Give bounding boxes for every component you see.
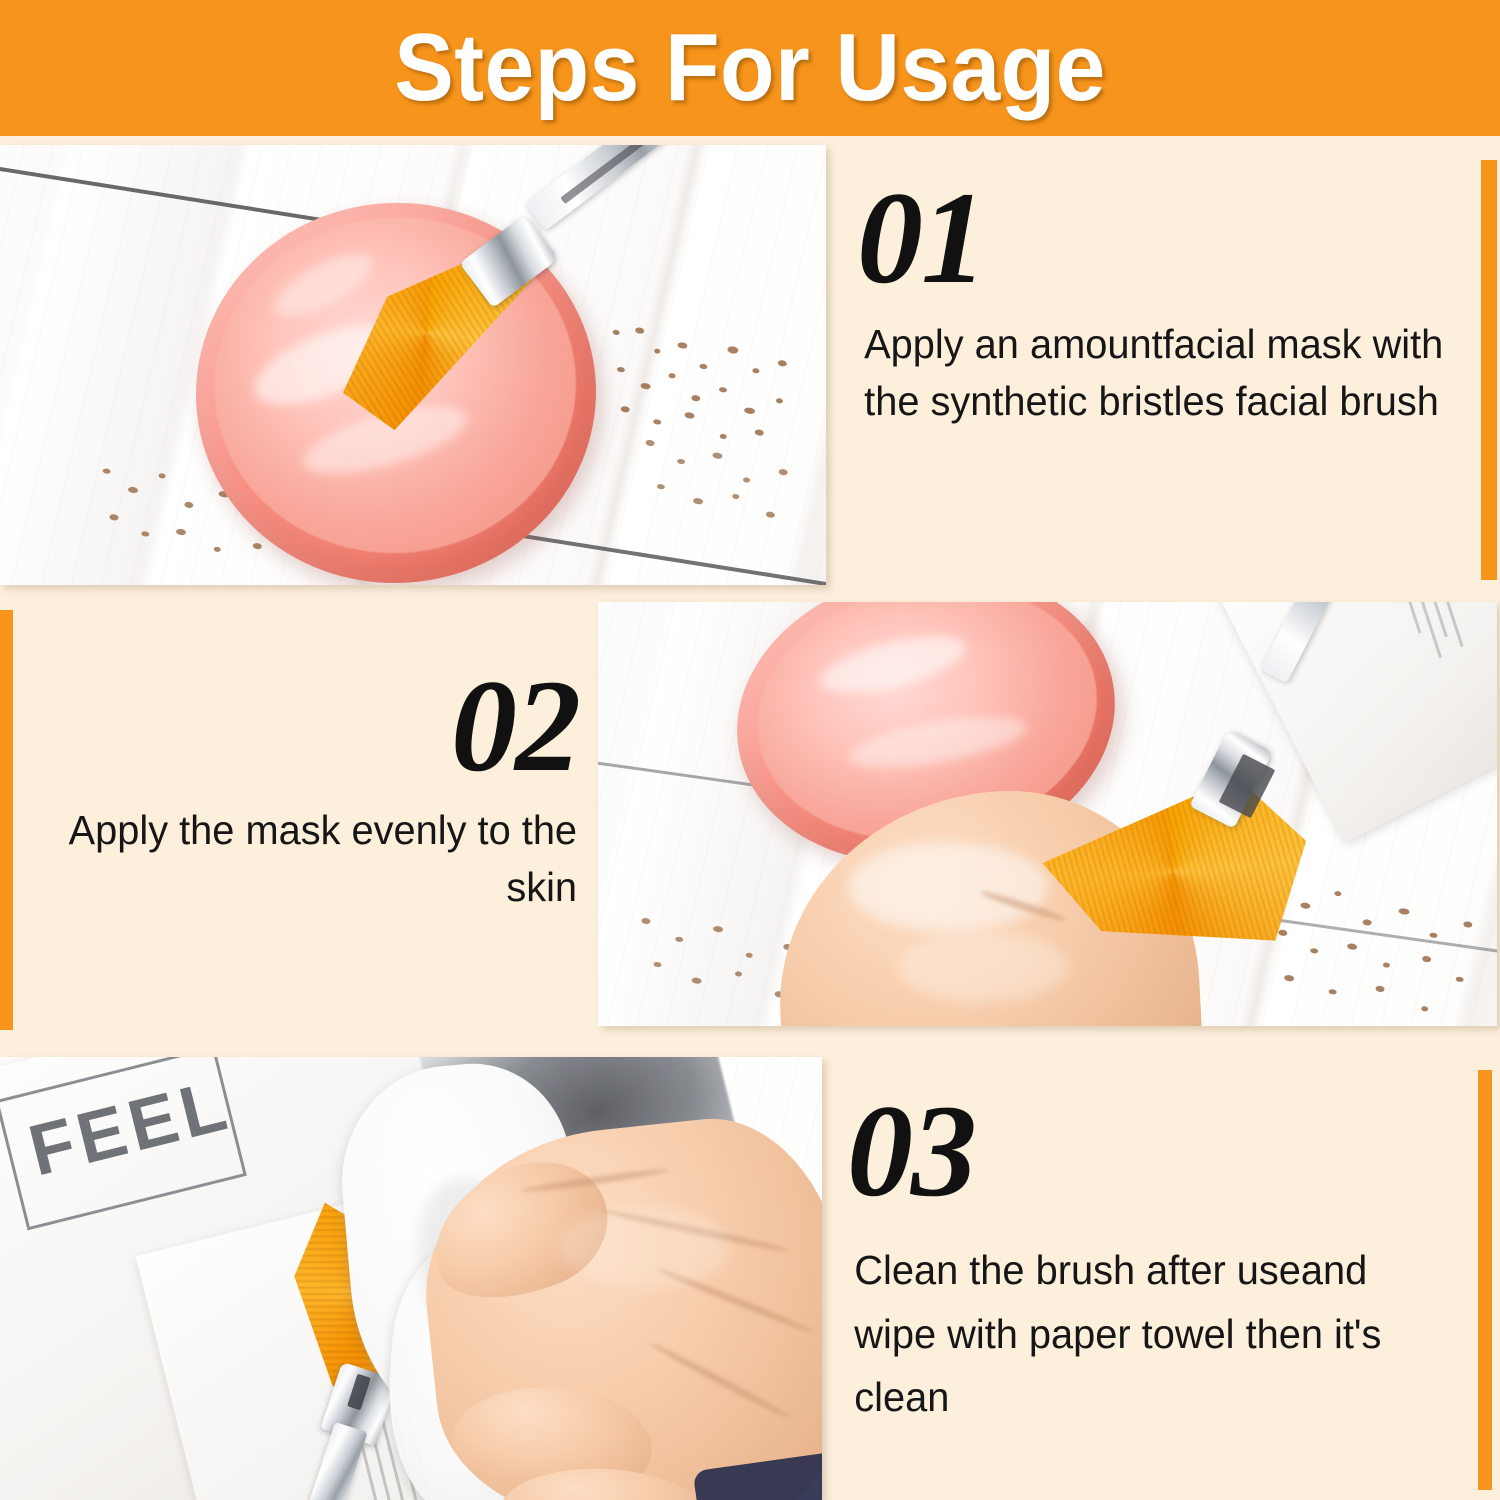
step-description-1: Apply an amountfacial mask with the synt…	[864, 316, 1456, 429]
step-photo-3: FEEL	[0, 1057, 822, 1500]
step-photo-1	[0, 145, 826, 585]
accent-bar-step-3	[1478, 1070, 1492, 1490]
accent-bar-step-1	[1481, 160, 1497, 580]
step-description-2: Apply the mask evenly to the skin	[63, 802, 577, 915]
step-photo-1-scene	[0, 145, 826, 585]
infographic-page: Steps For Usage	[0, 0, 1500, 1500]
skin-gloss	[848, 842, 1048, 932]
step-number-3: 03	[847, 1085, 1465, 1217]
step-number-1: 01	[857, 172, 1465, 304]
step-number-2: 02	[55, 660, 579, 792]
page-title: Steps For Usage	[53, 0, 1448, 136]
step-photo-2	[598, 602, 1497, 1026]
header-banner: Steps For Usage	[0, 0, 1500, 136]
step-description-3: Clean the brush after useand wipe with p…	[854, 1239, 1455, 1430]
step-block-3: 03 Clean the brush after useand wipe wit…	[845, 1085, 1465, 1430]
step-block-1: 01 Apply an amountfacial mask with the s…	[855, 172, 1465, 429]
skin-gloss	[898, 932, 1068, 1002]
step-photo-2-scene	[598, 602, 1497, 1026]
hand-highlight	[560, 1207, 730, 1287]
accent-bar-step-2	[0, 610, 13, 1030]
step-block-2: 02 Apply the mask evenly to the skin	[55, 660, 585, 915]
step-photo-3-scene: FEEL	[0, 1057, 822, 1500]
